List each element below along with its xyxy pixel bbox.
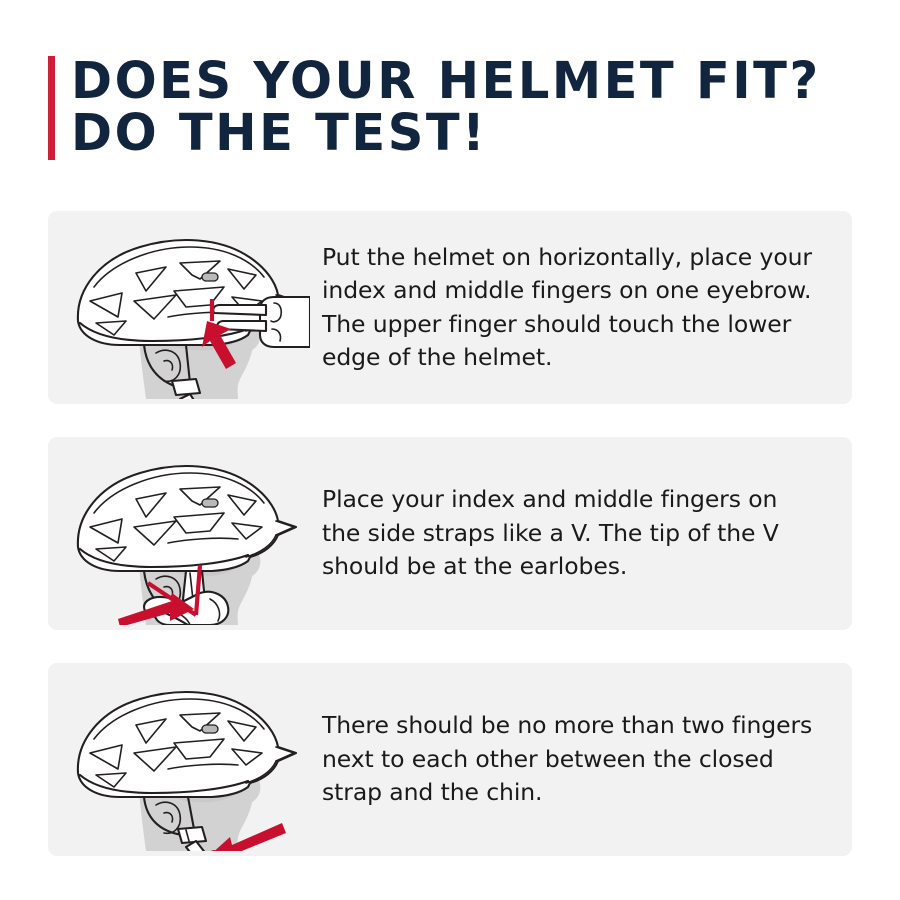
infographic-page: DOES YOUR HELMET FIT? DO THE TEST!	[0, 0, 900, 900]
helmet-fingers-eyebrow-icon	[60, 217, 310, 399]
step-2-illustration	[48, 437, 322, 630]
step-card-1: Put the helmet on horizontally, place yo…	[48, 211, 852, 404]
step-card-2: Place your index and middle fingers on t…	[48, 437, 852, 630]
step-1-text: Put the helmet on horizontally, place yo…	[322, 241, 852, 375]
step-2-text: Place your index and middle fingers on t…	[322, 483, 852, 584]
title-line-2: DO THE TEST!	[71, 108, 821, 160]
step-3-text: There should be no more than two fingers…	[322, 709, 852, 810]
title-accent-bar	[48, 56, 55, 160]
step-3-illustration	[48, 663, 322, 856]
page-title: DOES YOUR HELMET FIT? DO THE TEST!	[48, 56, 844, 160]
step-card-3: There should be no more than two fingers…	[48, 663, 852, 856]
title-lines: DOES YOUR HELMET FIT? DO THE TEST!	[71, 56, 844, 160]
title-line-1: DOES YOUR HELMET FIT?	[71, 56, 821, 108]
helmet-closed-strap-buckle-icon	[60, 669, 310, 851]
steps-list: Put the helmet on horizontally, place yo…	[48, 211, 852, 856]
step-1-illustration	[48, 211, 322, 404]
helmet-fingers-v-straps-icon	[60, 443, 310, 625]
